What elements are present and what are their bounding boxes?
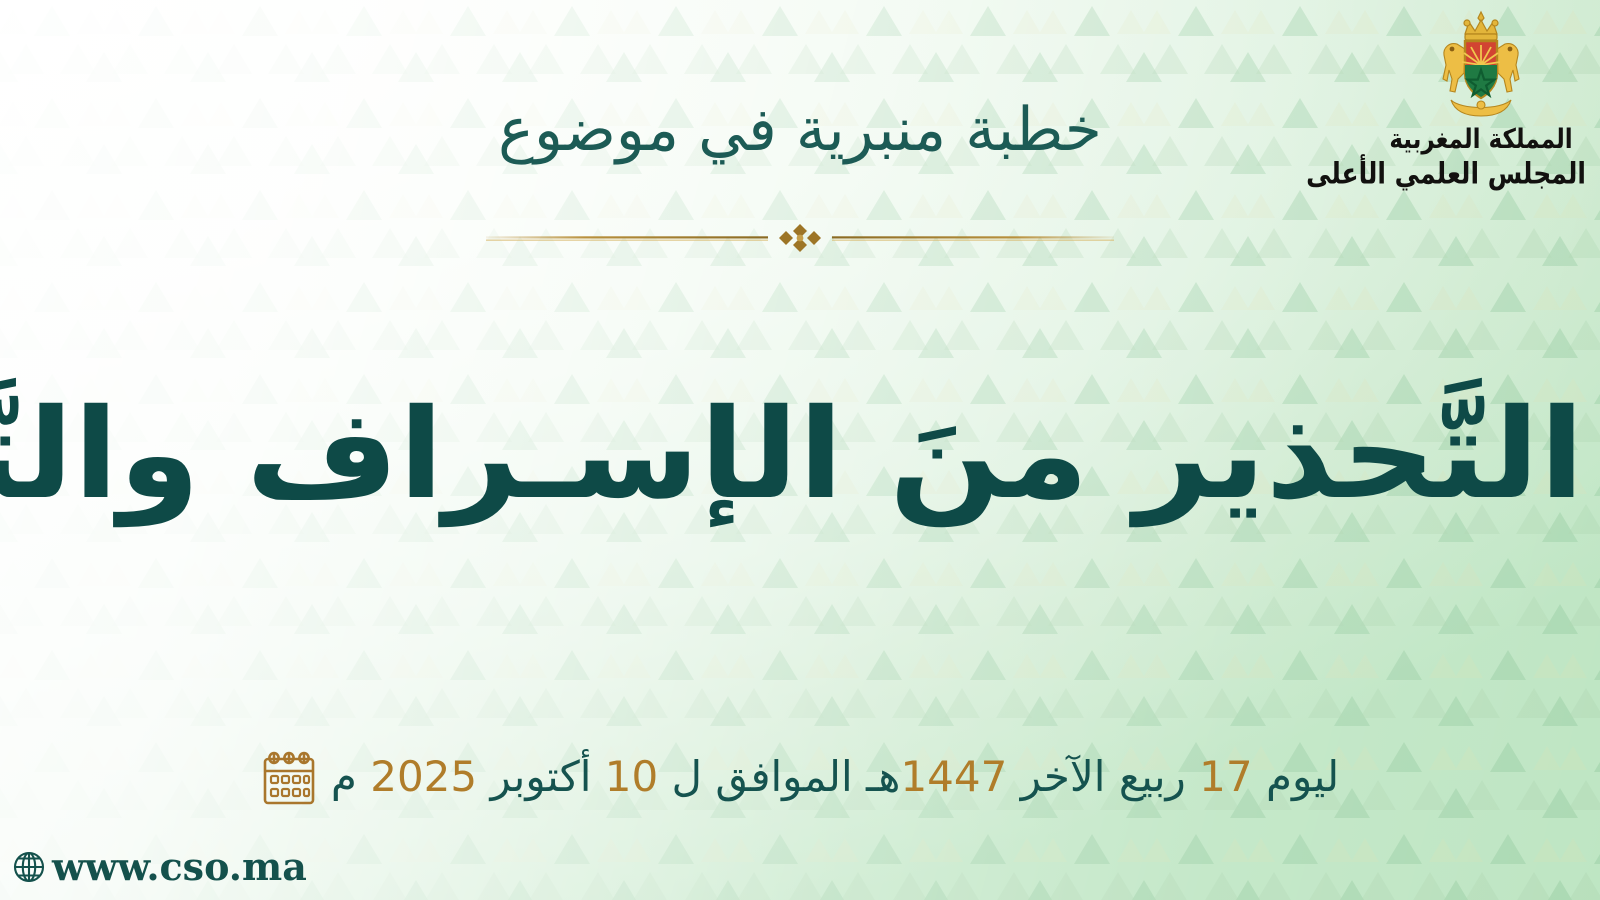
gregorian-suffix: م <box>331 752 357 801</box>
website-footer[interactable]: www.cso.ma <box>8 846 307 888</box>
website-url[interactable]: www.cso.ma <box>52 848 307 886</box>
globe-icon <box>8 846 50 888</box>
hijri-suffix: هـ <box>866 752 900 801</box>
gold-quatrefoil-divider-icon <box>480 218 1120 258</box>
date-text: ليوم 17 ربيع الآخر 1447هـ الموافق ل 10 أ… <box>331 754 1339 800</box>
gregorian-month: أكتوبر <box>490 752 591 801</box>
hijri-year: 1447 <box>900 752 1007 801</box>
date-line: ليوم 17 ربيع الآخر 1447هـ الموافق ل 10 أ… <box>0 748 1600 806</box>
gregorian-day: 10 <box>605 752 658 801</box>
gregorian-year: 2025 <box>370 752 477 801</box>
khutba-poster: المملكة المغربية المجلس العلمي الأعلى خط… <box>0 0 1600 900</box>
date-linker: الموافق ل <box>672 752 853 801</box>
header-title: خطبة منبرية في موضوع <box>0 96 1600 165</box>
calendar-icon <box>261 748 317 806</box>
hijri-month: ربيع الآخر <box>1021 752 1186 801</box>
header: خطبة منبرية في موضوع <box>0 96 1600 165</box>
hijri-day: 17 <box>1199 752 1252 801</box>
page-title: التَّحذير منَ الإسـراف والتَّبـــذير <box>16 372 1585 539</box>
date-prefix: ليوم <box>1266 752 1339 801</box>
main-title-block: التَّحذير منَ الإسـراف والتَّبـــذير <box>0 372 1600 539</box>
